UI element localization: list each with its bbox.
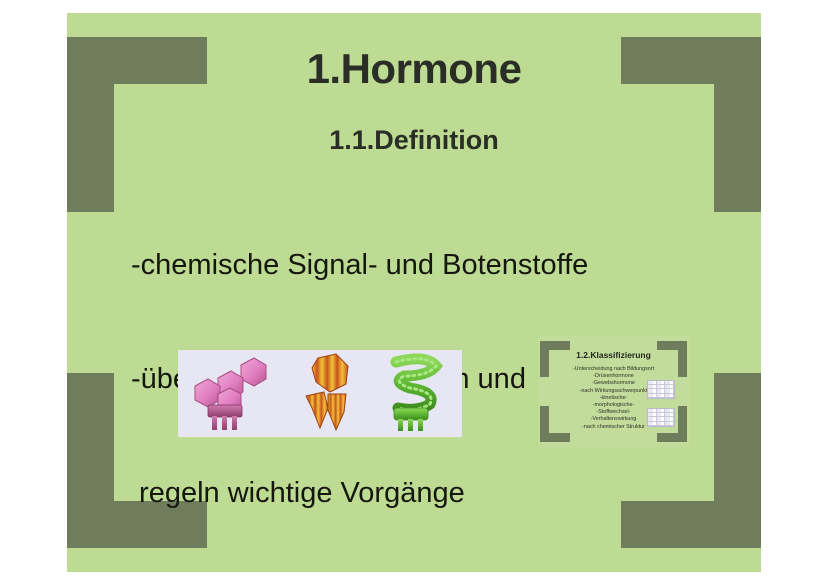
body-line-1: -chemische Signal- und Botenstoffe <box>131 246 731 284</box>
table-row <box>648 422 674 426</box>
striped-peptide-molecule <box>306 354 348 430</box>
body-line-3: regeln wichtige Vorgänge <box>131 474 731 512</box>
inset-table-thumbnail-1 <box>647 380 675 399</box>
slide-subtitle: 1.1.Definition <box>67 125 761 156</box>
slide-title: 1.Hormone <box>67 45 761 93</box>
inset-slide-klassifizierung: 1.2.Klassifizierung -Unterscheidung nach… <box>538 336 689 447</box>
inset-line-1: -Unterscheidung nach Bildungsort <box>538 366 689 373</box>
corner-bracket-bottom-left-vertical <box>67 373 114 548</box>
molecule-figure <box>178 350 462 437</box>
inset-table-thumbnail-2 <box>647 408 675 427</box>
green-helix-molecule <box>394 359 436 431</box>
table-row <box>648 394 674 398</box>
slide-canvas: 1.Hormone 1.1.Definition -chemische Sign… <box>67 13 761 572</box>
molecule-illustration <box>178 350 462 437</box>
inset-slide-title: 1.2.Klassifizierung <box>538 350 689 360</box>
steroid-hormone-molecule <box>195 358 266 430</box>
